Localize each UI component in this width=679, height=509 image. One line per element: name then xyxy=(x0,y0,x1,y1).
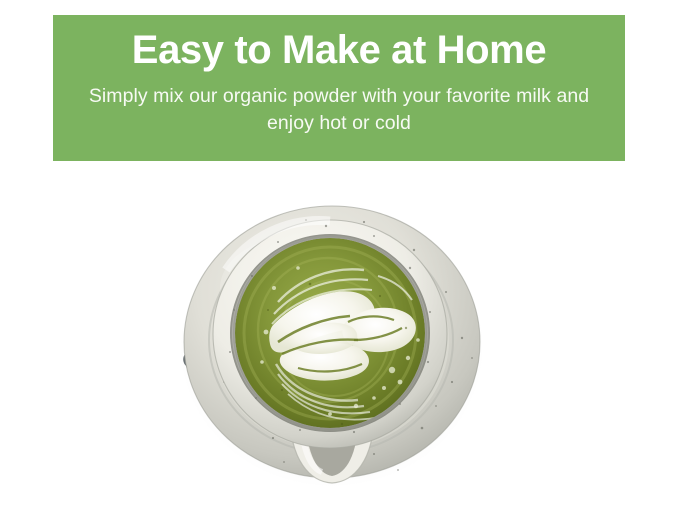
banner-title: Easy to Make at Home xyxy=(132,28,546,73)
banner-subtitle: Simply mix our organic powder with your … xyxy=(69,83,609,138)
matcha-latte-illustration xyxy=(178,192,488,488)
matcha-surface xyxy=(235,238,425,428)
promo-banner: Easy to Make at Home Simply mix our orga… xyxy=(53,15,625,161)
page-root: Easy to Make at Home Simply mix our orga… xyxy=(0,0,679,509)
matcha-latte-photo xyxy=(178,192,488,488)
photo-area xyxy=(0,170,679,509)
